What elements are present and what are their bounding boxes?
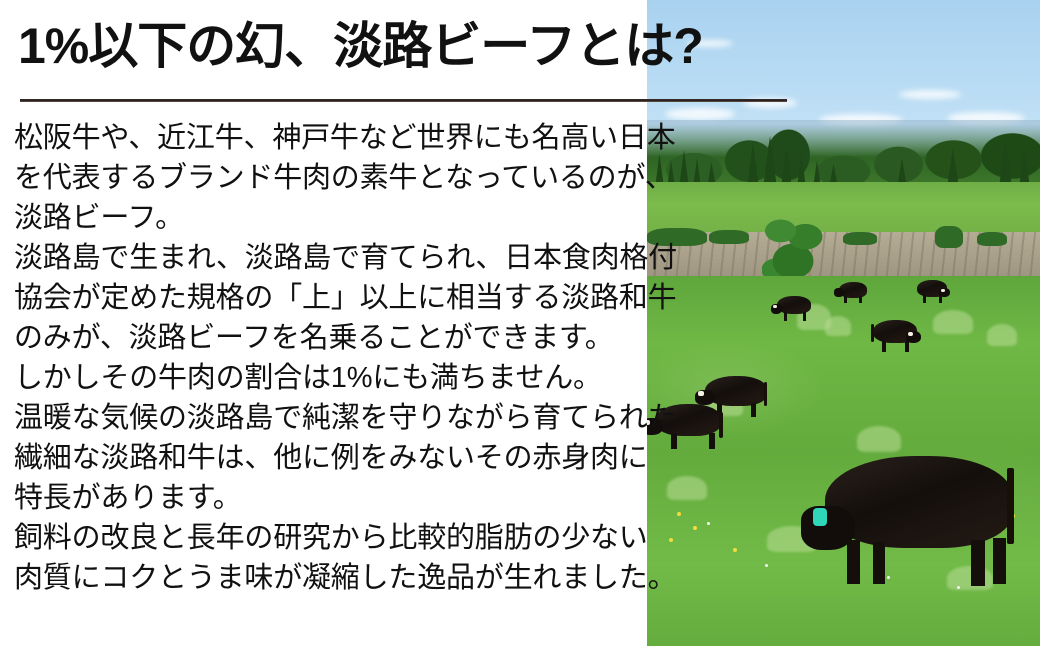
wildflower [887,576,890,579]
cow-leg [671,433,677,449]
cow-tail [871,324,874,342]
cow-leg [939,295,942,303]
body-line: 松阪牛や、近江牛、神戸牛など世界にも名高い日本 [14,118,644,158]
wildflower [693,526,697,530]
grass-tuft [857,426,901,452]
cow-leg [847,540,860,584]
cow-tail [1007,468,1014,544]
cow-ear-tag [908,332,913,336]
hedge-shrub [843,232,877,245]
cow-body [705,376,767,406]
wildflower [765,564,768,567]
cow-tail [719,412,723,438]
body-line: 温暖な気候の淡路島で純潔を守りながら育てられた [14,398,644,438]
cow-leg [844,296,847,303]
wildflower [677,512,681,516]
treeline-layer [647,124,1040,188]
cow-leg [803,312,806,321]
cow [705,376,767,406]
cow-leg [784,312,787,321]
hedge-shrub [977,232,1007,246]
grass-tuft [825,316,851,336]
body-line: 繊細な淡路和牛は、他に例をみないその赤身肉に [14,438,644,478]
body-line: 協会が定めた規格の「上」以上に相当する淡路和牛 [14,278,644,318]
cow [917,280,947,297]
conifer-icon [999,140,1012,188]
hedge-shrub [709,230,749,244]
cow-ear-tag [698,391,704,396]
body-line: を代表するブランド牛肉の素牛となっているのが、 [14,158,644,198]
body-line: 飼料の改良と長年の研究から比較的脂肪の少ない [14,518,644,558]
cow-ear-tag [813,508,827,526]
body-copy: 松阪牛や、近江牛、神戸牛など世界にも名高い日本 を代表するブランド牛肉の素牛とな… [14,118,644,598]
cow-leg [882,341,886,352]
wildflower [669,538,673,542]
infographic-panel: 1%以下の幻、淡路ビーフとは? 松阪牛や、近江牛、神戸牛など世界にも名高い日本 … [0,0,1040,646]
cow [777,296,811,314]
cow [839,282,867,298]
body-line: 肉質にコクとうま味が凝縮した逸品が生れました。 [14,558,644,598]
page-title: 1%以下の幻、淡路ビーフとは? [18,18,703,74]
body-line: 淡路島で生まれ、淡路島で育てられ、日本食肉格付 [14,238,644,278]
cow-leg [859,296,862,303]
cow-leg [993,538,1006,584]
wildflower [957,586,960,589]
hedge-shrub [935,226,963,248]
foreground-cow [825,456,1013,548]
body-line: しかしその牛肉の割合は1%にも満ちません。 [14,358,644,398]
cloud-icon [899,90,961,99]
conifer-icon [763,136,777,188]
cow-leg [751,403,756,417]
cow-tail [764,382,767,406]
cow-head [834,288,844,297]
wildflower [707,522,710,525]
grass-tuft [667,476,707,500]
grass-tuft [933,310,973,334]
cow-leg [905,341,909,352]
cow-leg [971,540,985,586]
cow-ear-tag [773,305,777,308]
body-line: のみが、淡路ビーフを名乗ることができます。 [14,318,644,358]
title-divider [20,99,787,102]
upper-pasture-layer [647,182,1040,234]
grass-tuft [947,566,993,590]
body-line: 淡路ビーフ。 [14,198,644,238]
cow-leg [873,542,885,584]
cloud-icon [665,108,735,120]
cow-leg [709,433,715,449]
cow-leg [923,295,926,303]
cow [873,320,917,343]
cow-ear-tag [941,289,945,292]
wildflower [733,548,737,552]
body-line: 特長があります。 [14,478,644,518]
pasture-photo [647,0,1040,646]
grass-tuft [987,324,1017,346]
